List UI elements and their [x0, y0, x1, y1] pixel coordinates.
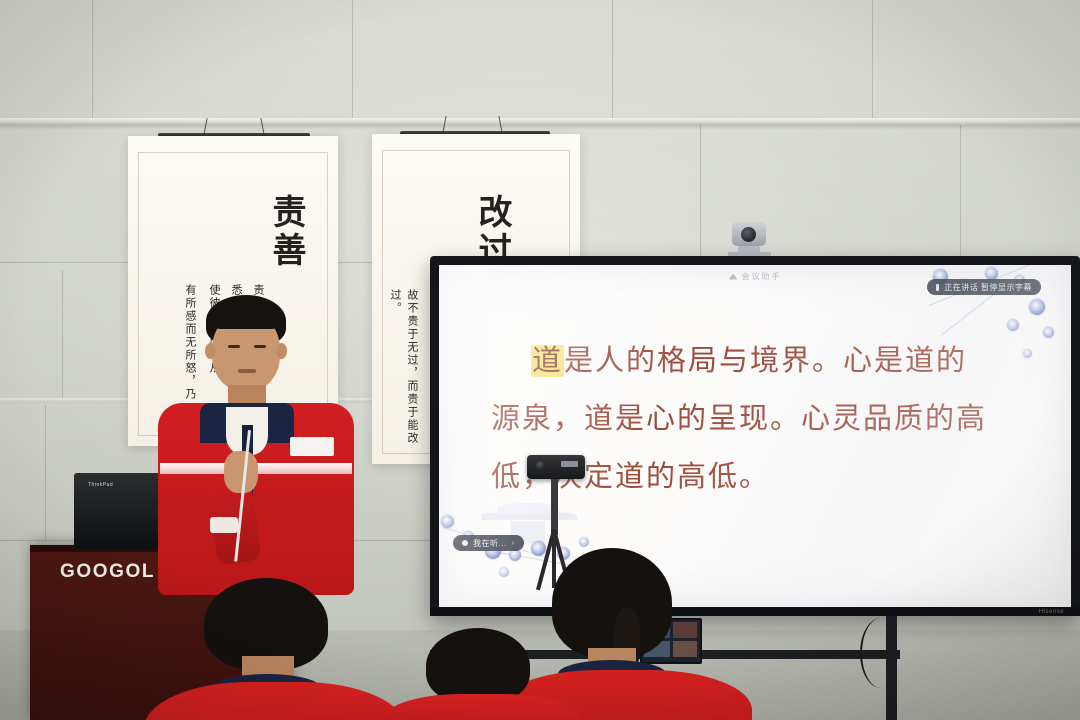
wall-ledge: [0, 118, 1080, 125]
presenter-cuff: [210, 517, 238, 533]
blossom: [1007, 319, 1019, 331]
presenter-stripe-right: [256, 463, 352, 474]
highlighted-character: 道: [531, 345, 564, 377]
blossom: [441, 515, 454, 528]
wall-grout-line: [92, 0, 93, 118]
mic-icon: [936, 284, 939, 291]
slide-body-text: 道是人的格局与境界。心是道的: [491, 335, 1037, 389]
slide-watermark: 会议助手: [729, 271, 782, 282]
tripod-pole: [551, 479, 558, 535]
presentation-room-photo: 责善 责善 悉其忠爱 使彼闻之而可从 有所感而无所怒，乃 改过 故不贵于无过，而…: [0, 0, 1080, 720]
presenter-eye-left: [228, 345, 240, 348]
scroll-col-right: 故不贵于无过，而贵于能改过。: [386, 289, 420, 449]
slide-line-2-wrap: 源泉，道是心的呈现。心灵品质的高: [491, 393, 1037, 447]
presenter-hairline: [208, 301, 284, 329]
slide-line-1: 是人的格局与境界。心是道的: [564, 345, 967, 377]
presenter-logo-badge: [290, 437, 334, 456]
presenter-person: [150, 295, 380, 595]
slide-line-2: 源泉，道是心的呈现。心灵品质的高: [491, 403, 987, 435]
watermark-mark-icon: [729, 274, 738, 280]
power-cable: [860, 618, 902, 688]
wall-grout-line: [700, 125, 701, 262]
wall-grout-line: [872, 0, 873, 118]
presenter-ear-right: [276, 343, 287, 359]
captions-status-pill[interactable]: 正在讲话 暂停显示字幕: [927, 279, 1041, 295]
webcam-lens-icon: [536, 461, 545, 470]
blossom: [499, 567, 509, 577]
listening-icon: [462, 540, 468, 546]
presenter-eye-right: [254, 345, 266, 348]
webcam-light-strip: [561, 461, 578, 467]
audience-left-jacket: [144, 682, 406, 720]
listening-label: 我在听...: [473, 538, 507, 549]
ptz-camera: [722, 222, 778, 260]
presenter-ear-left: [205, 343, 216, 359]
captions-status-label: 正在讲话 暂停显示字幕: [944, 282, 1032, 293]
audience-right-jacket: [380, 694, 584, 720]
ptz-camera-lens: [741, 227, 756, 242]
wall-grout-line: [612, 0, 613, 118]
audience-center-hair: [552, 548, 672, 658]
blossom: [1029, 299, 1045, 315]
laptop-brand-label: ThinkPad: [88, 482, 104, 487]
tripod-webcam: [527, 455, 585, 479]
blossom: [579, 537, 589, 547]
wall-grout-line: [352, 0, 353, 118]
audience-member-right: [390, 628, 570, 720]
blossom: [1043, 327, 1054, 338]
audience-right-hair: [426, 628, 530, 704]
wall-grout-line: [45, 405, 46, 540]
watermark-label: 会议助手: [742, 271, 782, 282]
audience-member-left: [160, 578, 390, 720]
tv-brand-label: Hisense: [1039, 609, 1064, 615]
wall-grout-line: [62, 270, 63, 400]
chevron-right-icon: ›: [512, 540, 515, 547]
scroll-title-left: 责善: [261, 194, 310, 270]
presenter-mouth: [238, 369, 256, 373]
wall-grout-line: [960, 125, 961, 262]
